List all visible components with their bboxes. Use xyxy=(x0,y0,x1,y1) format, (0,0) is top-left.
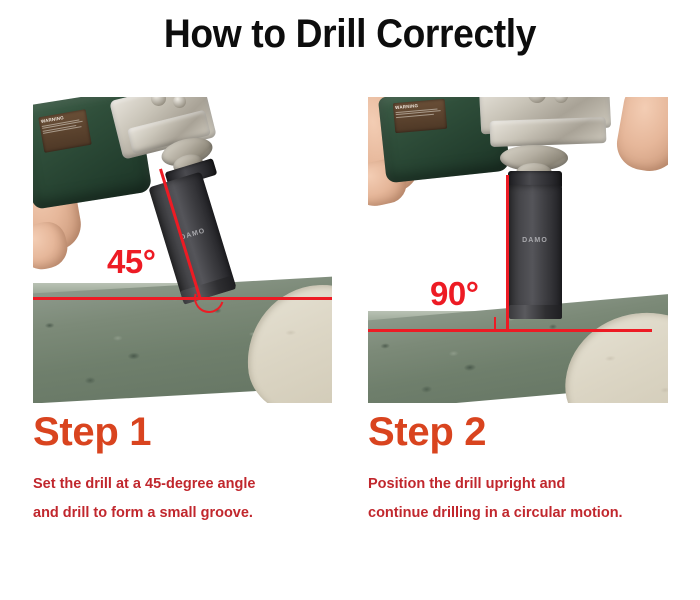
step-2-description-line-2: continue drilling in a circular motion. xyxy=(368,499,673,528)
right-angle-marker xyxy=(494,317,509,332)
step-1-photo: WARNING DAMO 45° xyxy=(33,97,332,403)
step-1-block: Step 1 Set the drill at a 45-degree angl… xyxy=(33,412,333,528)
warning-label: WARNING xyxy=(393,99,447,133)
step-2-heading: Step 2 xyxy=(368,412,673,452)
step-1-heading: Step 1 xyxy=(33,412,333,452)
damo-brand-text: DAMO xyxy=(508,237,562,244)
step-2-photo: WARNING DAMO 90° xyxy=(368,97,668,403)
angle-label-90: 90° xyxy=(430,277,478,310)
step-1-description-line-2: and drill to form a small groove. xyxy=(33,499,333,528)
step-2-block: Step 2 Position the drill upright and co… xyxy=(368,412,673,528)
hand-right xyxy=(613,97,668,176)
vertical-reference-line xyxy=(506,175,509,331)
page-title: How to Drill Correctly xyxy=(25,14,676,54)
step-1-description-line-1: Set the drill at a 45-degree angle xyxy=(33,470,333,499)
core-bit-teeth xyxy=(509,305,562,319)
illustration-panels: WARNING DAMO 45° xyxy=(0,97,700,403)
grinder-guard-bracket xyxy=(490,117,607,147)
core-bit-barrel xyxy=(508,185,562,311)
horizontal-reference-line xyxy=(33,297,332,300)
angle-label-45: 45° xyxy=(107,245,155,278)
horizontal-reference-line xyxy=(368,329,652,332)
step-2-description-line-1: Position the drill upright and xyxy=(368,470,673,499)
